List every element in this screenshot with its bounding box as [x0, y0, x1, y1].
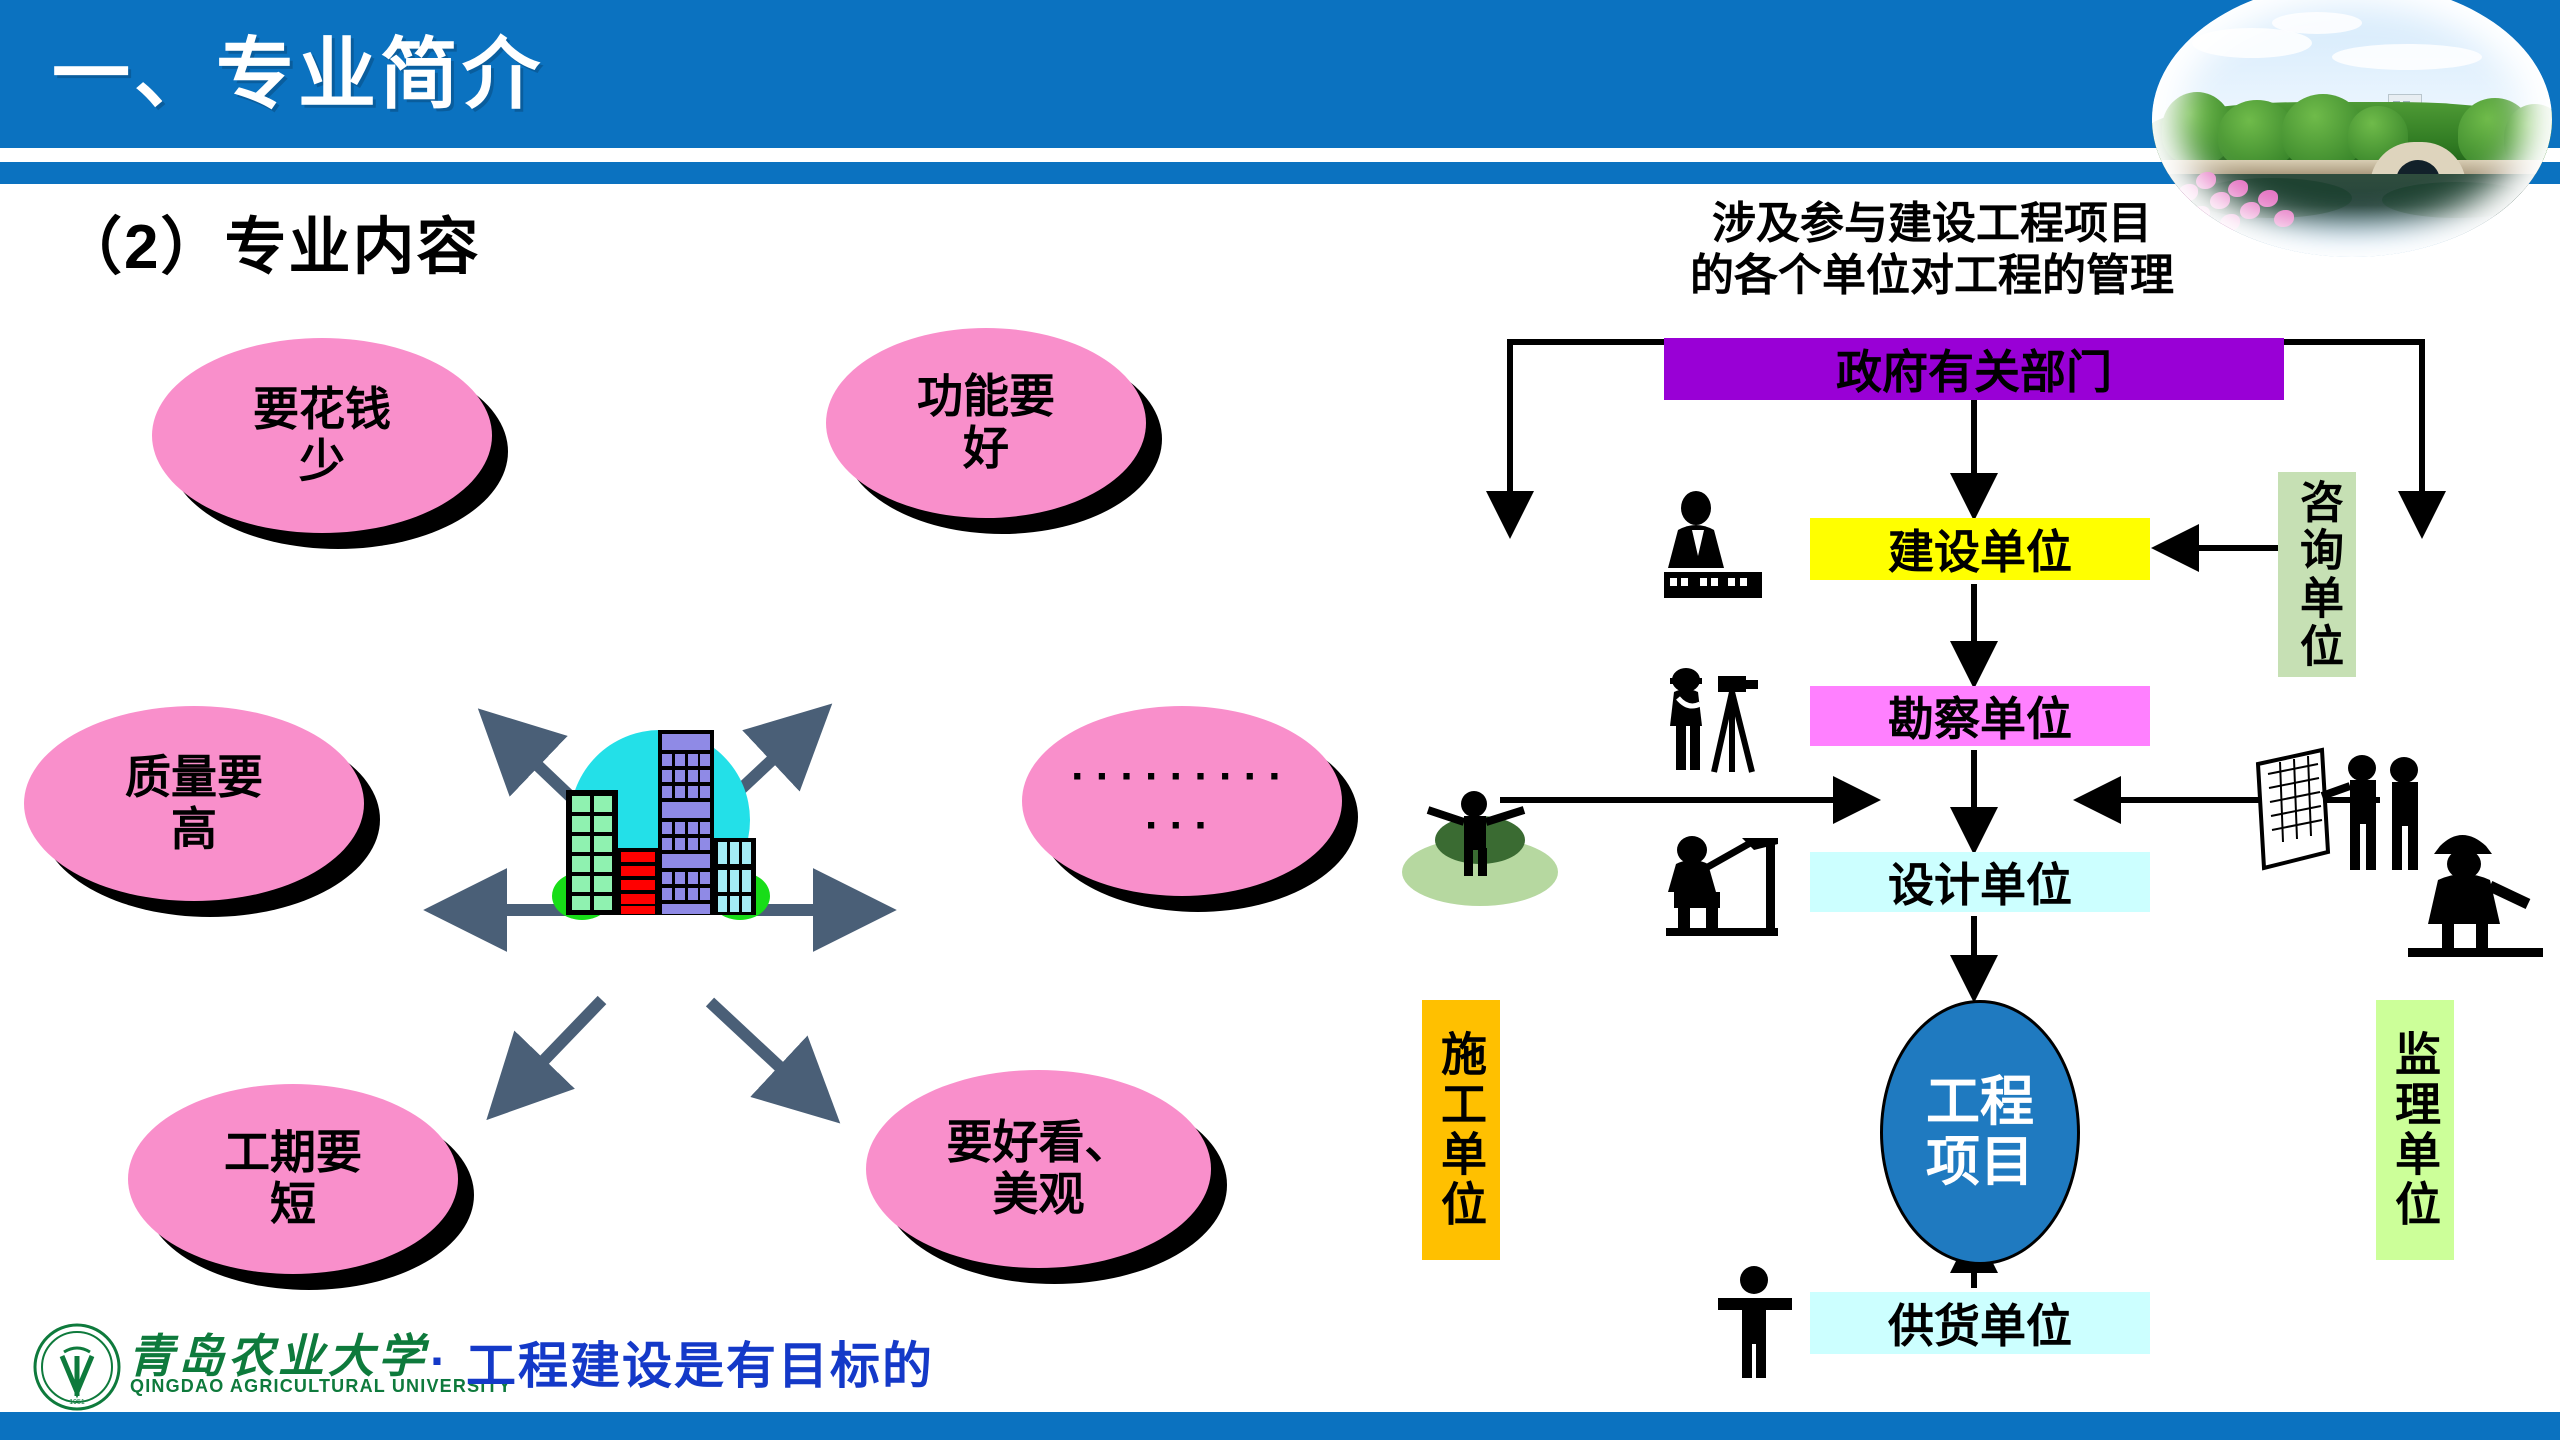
- svg-text:1951: 1951: [69, 1399, 85, 1406]
- goal-node-function-line2: 好: [917, 423, 1055, 475]
- goal-node-function-line1: 功能要: [917, 371, 1055, 423]
- flow-caption-line1: 涉及参与建设工程项目: [1612, 198, 2252, 250]
- flow-node-project-line2: 项目: [1926, 1132, 2034, 1192]
- hardhat-worker-icon: [2398, 820, 2548, 960]
- university-seal-icon: 1951: [22, 1322, 132, 1412]
- goal-node-aesthetic[interactable]: 要好看、 美观: [866, 1070, 1211, 1268]
- goal-node-cost[interactable]: 要花钱 少: [152, 338, 492, 533]
- goal-node-cost-line2: 少: [253, 436, 391, 488]
- goal-node-duration-line2: 短: [224, 1179, 362, 1231]
- city-buildings-icon: [520, 700, 800, 950]
- flow-box-consultant-label: 咨询单位: [2285, 479, 2349, 671]
- flow-box-government[interactable]: 政府有关部门: [1664, 338, 2284, 400]
- flow-box-design[interactable]: 设计单位: [1810, 852, 2150, 912]
- goal-node-aesthetic-line2: 美观: [947, 1169, 1131, 1221]
- flow-node-project[interactable]: 工程 项目: [1880, 1000, 2080, 1265]
- goal-node-function[interactable]: 功能要 好: [826, 328, 1146, 518]
- goal-node-cost-line1: 要花钱: [253, 384, 391, 436]
- university-name-en: QINGDAO AGRICULTURAL UNIVERSITY: [130, 1376, 512, 1397]
- footer-bullet-marker: ·: [430, 1332, 447, 1390]
- goal-node-etcetera-line2: ···: [1071, 801, 1293, 850]
- flow-box-design-label: 设计单位: [1888, 849, 2072, 915]
- flow-node-project-line1: 工程: [1926, 1072, 2034, 1132]
- excavator-worker-icon: [1400, 780, 1560, 910]
- goal-node-quality-line2: 高: [125, 804, 263, 856]
- flow-box-survey[interactable]: 勘察单位: [1810, 686, 2150, 746]
- draftsman-icon: [1648, 820, 1788, 940]
- flow-box-consultant[interactable]: 咨询单位: [2278, 472, 2356, 677]
- goal-node-aesthetic-line1: 要好看、: [947, 1117, 1131, 1169]
- flow-box-owner[interactable]: 建设单位: [1810, 518, 2150, 580]
- flow-box-supply[interactable]: 供货单位: [1810, 1292, 2150, 1354]
- flow-diagram-caption: 涉及参与建设工程项目 的各个单位对工程的管理: [1612, 198, 2252, 302]
- flow-box-supervisor[interactable]: 监理单位: [2376, 1000, 2454, 1260]
- flow-box-owner-label: 建设单位: [1888, 516, 2072, 582]
- flow-caption-line2: 的各个单位对工程的管理: [1612, 250, 2252, 302]
- section-subtitle: （2）专业内容: [60, 196, 480, 286]
- goal-node-duration-line1: 工期要: [224, 1127, 362, 1179]
- flow-box-supply-label: 供货单位: [1888, 1290, 2072, 1356]
- goal-node-etcetera-line1: ·········: [1071, 752, 1293, 801]
- footer-note: 工程建设是有目标的: [466, 1326, 934, 1398]
- flow-box-survey-label: 勘察单位: [1888, 683, 2072, 749]
- flow-box-government-label: 政府有关部门: [1836, 336, 2112, 402]
- businessman-icon: [1648, 490, 1778, 600]
- flow-box-contractor-label: 施工单位: [1428, 1030, 1494, 1230]
- goal-node-quality-line1: 质量要: [125, 752, 263, 804]
- footer-bar: [0, 1412, 2560, 1440]
- goal-node-quality[interactable]: 质量要 高: [24, 706, 364, 901]
- goal-node-duration[interactable]: 工期要 短: [128, 1084, 458, 1274]
- page-title: 一、专业简介: [52, 12, 544, 124]
- flow-box-supervisor-label: 监理单位: [2382, 1030, 2448, 1230]
- goal-node-etcetera[interactable]: ········· ···: [1022, 706, 1342, 896]
- flow-box-contractor[interactable]: 施工单位: [1422, 1000, 1500, 1260]
- surveyor-icon: [1648, 660, 1778, 780]
- delivery-person-icon: [1700, 1260, 1810, 1380]
